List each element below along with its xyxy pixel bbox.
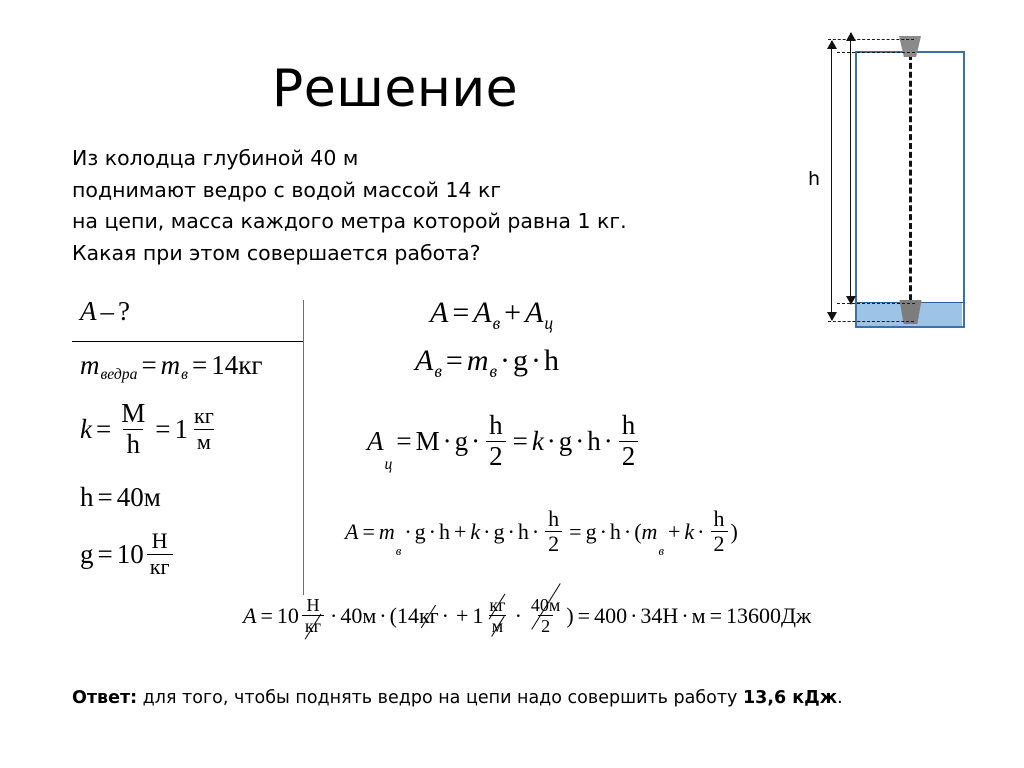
eq-num-k-unit-num-cancelled: кг <box>486 596 508 615</box>
page-title: Решение <box>0 62 790 117</box>
eq-total-plus-2: + <box>664 519 684 545</box>
eq-total-dot-3: · <box>480 519 493 545</box>
eq-total-dot-6: · <box>597 519 610 545</box>
unknown-dash: – <box>97 296 119 327</box>
eq-total-dot-1: · <box>401 519 414 545</box>
eq-total-dot-4: · <box>504 519 517 545</box>
eq-sum-sub-bucket: в <box>492 313 501 334</box>
chain-dashed-line <box>909 54 912 318</box>
eq-num-height-fraction: 40м 2 <box>528 596 563 636</box>
eq-total-mass: m <box>379 519 395 545</box>
eq-num-mass-unit-cancelled: кг <box>419 603 439 629</box>
eq-chain-total-mass: M <box>416 426 440 457</box>
eq-num-paren-close: ) <box>566 603 573 629</box>
eq-num-factor-2: 34 <box>640 603 662 629</box>
eq-num-lhs: A <box>243 603 256 629</box>
eq-bucket-lhs-sub: в <box>433 361 442 382</box>
mass-symbol: m <box>80 350 100 381</box>
eq-total-gravity-1: g <box>415 519 426 545</box>
eq-num-unit-force: Н <box>662 603 678 629</box>
eq-num-dot-5: · <box>627 603 640 629</box>
eq-chain-height: h <box>587 426 601 457</box>
eq-num-gravity-value: 10 <box>277 603 299 629</box>
equals-2: = <box>188 350 211 381</box>
eq-total-frac2-den: 2 <box>711 531 728 555</box>
eq-total-equals-2: = <box>565 519 585 545</box>
k-fraction-denominator: h <box>123 429 143 459</box>
eq-total-dot-8: · <box>694 519 707 545</box>
equation-chain-work: A ц = M · g · h 2 = k · g · h · h 2 <box>367 412 641 470</box>
eq-total-mass-2: m <box>642 519 658 545</box>
eq-sum-term-bucket: A <box>473 296 491 330</box>
mass-symbol-short: m <box>161 350 181 381</box>
eq-bucket-equals: = <box>442 344 467 378</box>
eq-num-equals-1: = <box>256 603 276 629</box>
eq-num-height-unit: м <box>362 603 376 629</box>
eq-chain-dot-2: · <box>468 426 483 457</box>
eq-num-gravity-unit-fraction: Н кг <box>302 596 324 636</box>
eq-num-k-value: 1 <box>472 603 483 629</box>
eq-num-paren-open: ( <box>390 603 397 629</box>
eq-total-height-2: h <box>518 519 529 545</box>
dimension-arrow-inner <box>850 33 851 304</box>
problem-line-4: Какая при этом совершается работа? <box>72 238 772 270</box>
eq-chain-equals-1: = <box>392 426 415 457</box>
depth-value: 40 <box>117 482 144 513</box>
eq-total-k: k <box>470 519 480 545</box>
gravity-unit-numerator: Н <box>149 530 171 554</box>
eq-total-frac1-den: 2 <box>545 531 562 555</box>
eq-bucket-mass-sub: в <box>488 361 497 382</box>
eq-total-fraction-2: h 2 <box>711 508 728 556</box>
gravity-equals: = <box>94 539 117 570</box>
eq-num-plus: + <box>452 603 472 629</box>
depth-unit: м <box>144 482 161 513</box>
eq-chain-dot-5: · <box>601 426 616 457</box>
eq-total-equals-1: = <box>358 519 378 545</box>
given-mass-bucket: m ведра = m в = 14 кг <box>80 350 262 381</box>
eq-total-mass-2-sub: в <box>657 544 664 559</box>
eq-num-result-unit: Дж <box>781 603 811 629</box>
eq-total-mass-sub: в <box>395 544 402 559</box>
eq-num-k-unit-fraction: кг м <box>486 596 508 636</box>
eq-chain-frac1-den: 2 <box>486 441 506 471</box>
eq-bucket-dot-2: · <box>528 344 544 378</box>
eq-sum-equals: = <box>448 296 473 330</box>
eq-total-dot-7: · <box>621 519 634 545</box>
eq-num-unit-length: м <box>692 603 706 629</box>
gravity-unit-fraction: Н кг <box>147 530 173 578</box>
depth-equals: = <box>94 482 117 513</box>
answer-label: Ответ: <box>72 688 137 708</box>
mass-subscript-short: в <box>180 366 188 384</box>
eq-num-height-frac-num-cancelled: 40м <box>528 596 563 615</box>
eq-total-frac2-num: h <box>711 508 728 531</box>
k-unit-fraction: кг м <box>191 405 217 453</box>
eq-total-paren-open: ( <box>634 519 641 545</box>
eq-total-height-3: h <box>610 519 621 545</box>
answer-text-before: для того, чтобы поднять ведро на цепи на… <box>137 688 743 708</box>
eq-chain-frac1-num: h <box>486 412 506 441</box>
eq-num-height-value: 40 <box>340 603 362 629</box>
eq-bucket-mass: m <box>467 344 489 378</box>
eq-bucket-dot-1: · <box>497 344 513 378</box>
equals-1: = <box>137 350 160 381</box>
depth-symbol: h <box>80 482 94 513</box>
given-gravity: g = 10 Н кг <box>80 530 176 578</box>
eq-total-plus: + <box>450 519 470 545</box>
eq-total-paren-close: ) <box>731 519 738 545</box>
equation-numeric-substitution: A = 10 Н кг · 40 м · ( 14 кг · + 1 кг м … <box>243 596 811 636</box>
dimension-arrow-outer <box>831 41 832 320</box>
eq-num-gravity-unit-den-cancelled: кг <box>302 615 324 635</box>
k-unit-denominator: м <box>194 429 214 454</box>
eq-chain-k: k <box>532 426 544 457</box>
eq-num-mass-value: 14 <box>397 603 419 629</box>
unknown-quantity: A – ? <box>80 296 130 327</box>
given-divider-rule <box>72 341 304 342</box>
gravity-symbol: g <box>80 539 94 570</box>
eq-total-dot-2: · <box>426 519 439 545</box>
eq-bucket-lhs: A <box>415 344 433 378</box>
unknown-question-mark: ? <box>118 296 130 327</box>
given-chain-coefficient: k = M h = 1 кг м <box>80 400 220 458</box>
eq-total-dot-5: · <box>529 519 542 545</box>
equation-total-work-expanded: A = m в · g · h + k · g · h · h 2 = g · … <box>345 508 738 556</box>
eq-sum-term-chain: A <box>525 296 543 330</box>
eq-num-dot-1: · <box>327 603 340 629</box>
eq-total-k-2: k <box>684 519 694 545</box>
eq-total-gravity-2: g <box>493 519 504 545</box>
k-unit-numerator: кг <box>191 405 217 429</box>
well-diagram: h <box>790 18 1024 363</box>
k-fraction-numerator: M <box>118 400 148 429</box>
eq-chain-lhs-sub: ц <box>384 456 393 474</box>
eq-num-dot-2: · <box>376 603 389 629</box>
eq-total-fraction-1: h 2 <box>545 508 562 556</box>
gravity-unit-denominator: кг <box>147 554 173 579</box>
eq-sum-lhs: A <box>430 296 448 330</box>
gravity-value: 10 <box>117 539 144 570</box>
mass-unit: кг <box>238 350 262 381</box>
eq-chain-gravity-2: g <box>559 426 573 457</box>
problem-line-2: поднимают ведро с водой массой 14 кг <box>72 175 772 207</box>
eq-chain-fraction-1: h 2 <box>486 412 506 470</box>
eq-num-dot-6: · <box>678 603 691 629</box>
eq-num-dot-4: · <box>512 603 525 629</box>
leader-line-bottom-outer <box>828 321 914 322</box>
eq-total-gravity-3: g <box>586 519 597 545</box>
column-divider <box>303 300 304 595</box>
unknown-symbol: A <box>80 296 97 327</box>
problem-line-3: на цепи, масса каждого метра которой рав… <box>72 206 772 238</box>
eq-num-result-value: 13600 <box>726 603 781 629</box>
mass-subscript-full: ведра <box>100 366 138 384</box>
eq-chain-fraction-2: h 2 <box>619 412 639 470</box>
eq-bucket-gravity: g <box>513 344 528 378</box>
k-value: 1 <box>174 414 188 445</box>
k-equals-1: = <box>92 414 115 445</box>
k-fraction-M-over-h: M h <box>118 400 148 458</box>
dimension-label-h: h <box>808 170 820 189</box>
eq-num-equals-2: = <box>574 603 594 629</box>
problem-line-1: Из колодца глубиной 40 м <box>72 143 772 175</box>
k-symbol: k <box>80 414 92 445</box>
equation-bucket-work: A в = m в · g · h <box>415 344 559 378</box>
eq-sum-plus: + <box>500 296 525 330</box>
eq-sum-sub-chain: ц <box>543 313 553 334</box>
eq-total-lhs: A <box>345 519 358 545</box>
k-equals-2: = <box>151 414 174 445</box>
eq-chain-equals-2: = <box>509 426 532 457</box>
mass-value: 14 <box>211 350 238 381</box>
eq-num-height-frac-den: 2 <box>538 615 553 635</box>
eq-num-dot-3: · <box>439 603 452 629</box>
eq-chain-lhs: A <box>367 426 384 457</box>
eq-chain-dot-3: · <box>544 426 559 457</box>
eq-bucket-height: h <box>544 344 559 378</box>
equation-total-work-sum: A = A в + A ц <box>430 296 553 330</box>
leader-line-top-outer <box>828 39 914 40</box>
problem-statement: Из колодца глубиной 40 м поднимают ведро… <box>72 143 772 269</box>
eq-total-height-1: h <box>439 519 450 545</box>
eq-chain-dot-1: · <box>440 426 455 457</box>
eq-num-factor-1: 400 <box>594 603 627 629</box>
eq-chain-dot-4: · <box>572 426 587 457</box>
leader-line-top-inner <box>837 52 915 53</box>
answer-line: Ответ: для того, чтобы поднять ведро на … <box>72 686 972 710</box>
answer-value: 13,6 кДж <box>743 688 837 708</box>
eq-chain-frac2-num: h <box>619 412 639 441</box>
eq-num-equals-3: = <box>706 603 726 629</box>
eq-num-k-unit-den-cancelled: м <box>489 615 506 635</box>
eq-chain-gravity-1: g <box>455 426 469 457</box>
eq-total-frac1-num: h <box>545 508 562 531</box>
eq-chain-frac2-den: 2 <box>619 441 639 471</box>
answer-text-after: . <box>837 688 843 708</box>
given-depth: h = 40 м <box>80 482 161 513</box>
